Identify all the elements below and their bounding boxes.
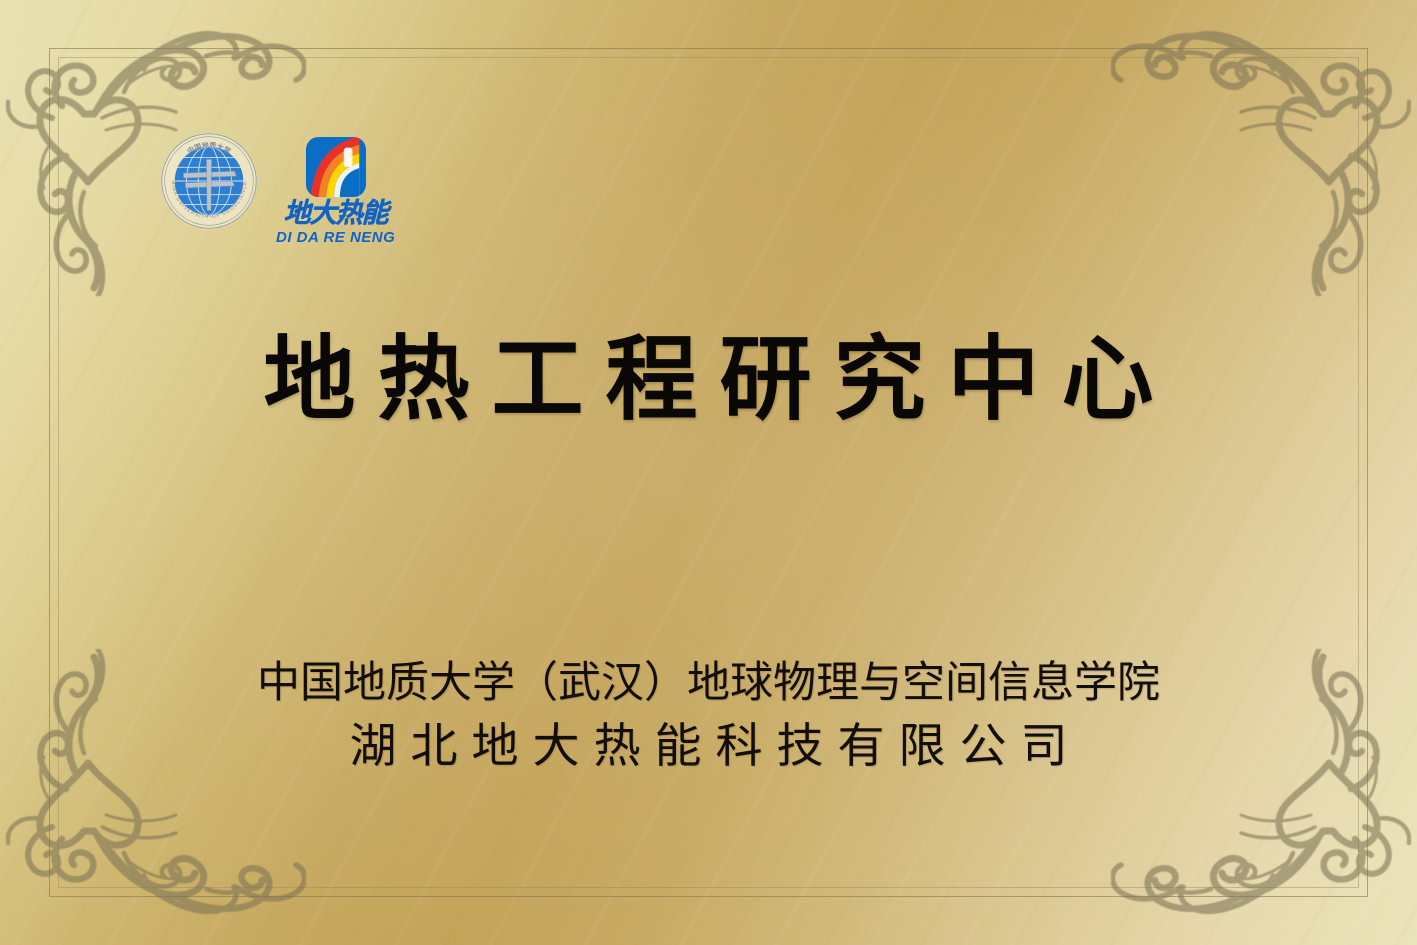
didareneng-mark-icon (305, 136, 367, 198)
page-title: 地热工程研究中心 (0, 332, 1417, 429)
logo-row: 中国地质大学 CHINA UNIVERSITY OF GEOSCIENCES 1… (160, 132, 395, 245)
china-university-of-geosciences-emblem-icon: 中国地质大学 CHINA UNIVERSITY OF GEOSCIENCES 1… (160, 132, 258, 230)
affiliation-line-1: 中国地质大学（武汉）地球物理与空间信息学院 (0, 657, 1417, 709)
didareneng-name-cn: 地大热能 (284, 200, 388, 227)
plaque-sign: 中国地质大学 CHINA UNIVERSITY OF GEOSCIENCES 1… (0, 0, 1417, 945)
affiliation-block: 中国地质大学（武汉）地球物理与空间信息学院 湖北地大热能科技有限公司 (0, 657, 1417, 777)
affiliation-line-2: 湖北地大热能科技有限公司 (0, 716, 1417, 777)
svg-text:1952: 1952 (204, 212, 214, 217)
corner-ornament-top-right-icon (1111, 0, 1411, 296)
didareneng-name-en: DI DA RE NENG (276, 230, 395, 245)
didareneng-logo: 地大热能 DI DA RE NENG (276, 136, 395, 245)
